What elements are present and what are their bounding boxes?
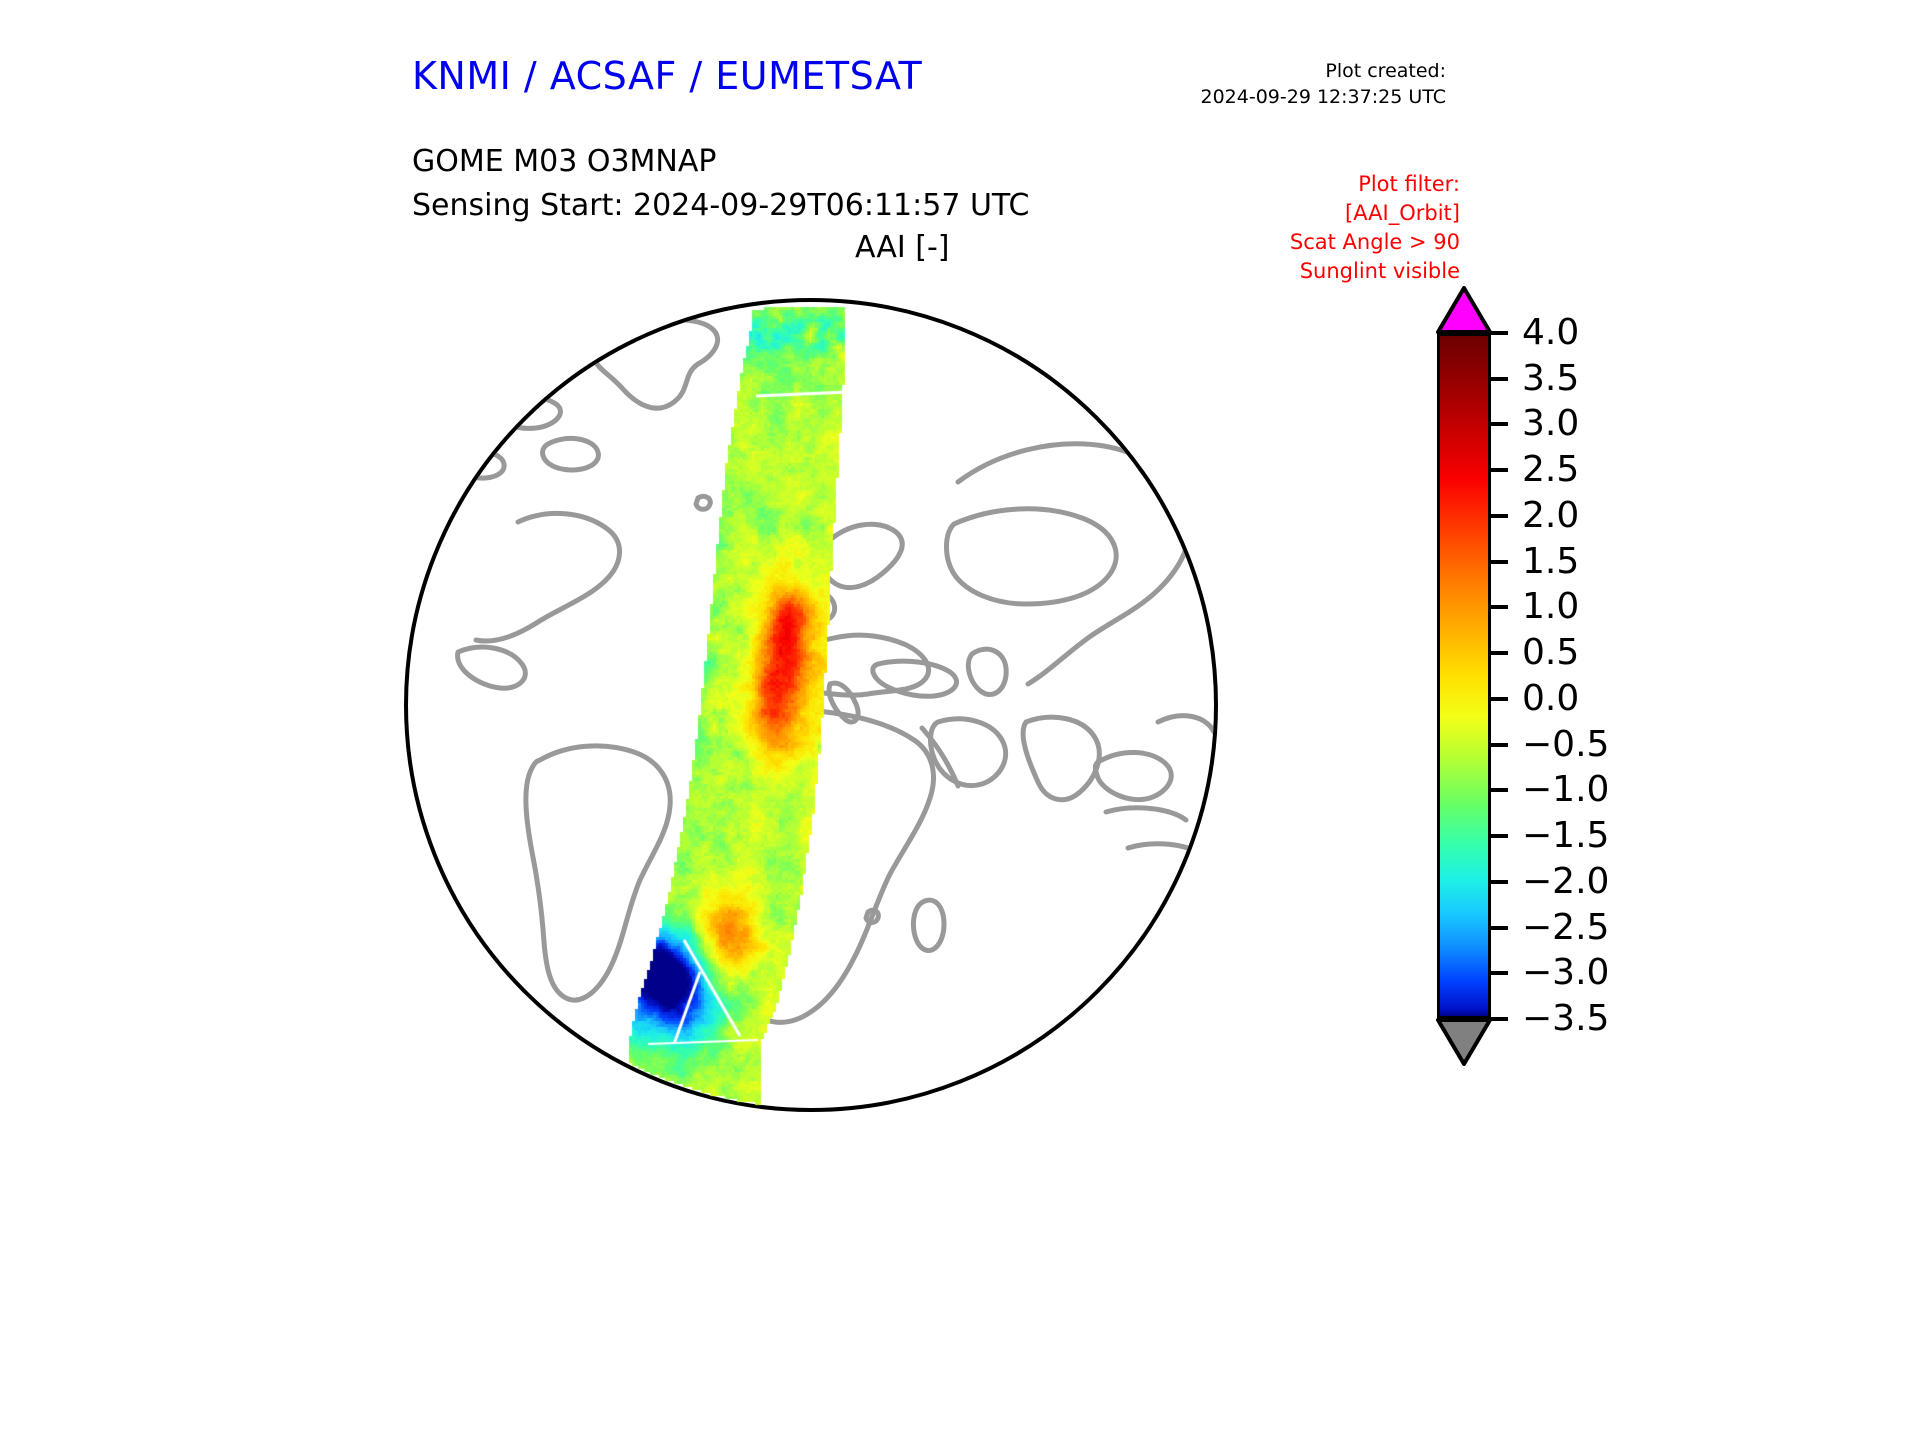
plot-title-block: GOME M03 O3MNAP Sensing Start: 2024-09-2… [412, 140, 1029, 228]
colorbar-tick-label: −2.0 [1522, 859, 1609, 905]
colorbar-tick-label: 1.0 [1522, 584, 1579, 630]
colorbar-tick-mark [1488, 468, 1508, 472]
colorbar-tick-label: 4.0 [1522, 310, 1579, 356]
aai-swath-overlay [398, 292, 1224, 1118]
colorbar-tick-mark [1488, 971, 1508, 975]
colorbar-tick-mark [1488, 560, 1508, 564]
colorbar-tick-label: 2.0 [1522, 493, 1579, 539]
plot-filter-line-1: [AAI_Orbit] [1290, 199, 1460, 228]
colorbar-tick-label: −3.5 [1522, 996, 1609, 1042]
colorbar: 4.03.53.02.52.01.51.00.50.0−0.5−1.0−1.5−… [1428, 286, 1668, 1066]
colorbar-tick-mark [1488, 1017, 1508, 1021]
colorbar-tick-mark [1488, 788, 1508, 792]
colorbar-tick-mark [1488, 743, 1508, 747]
colorbar-tick-label: −0.5 [1522, 722, 1609, 768]
plot-created-timestamp: 2024-09-29 12:37:25 UTC [1201, 84, 1447, 110]
colorbar-tick-mark [1488, 422, 1508, 426]
colorbar-tick-mark [1488, 605, 1508, 609]
quantity-label: AAI [-] [855, 230, 950, 265]
colorbar-tick-list: 4.03.53.02.52.01.51.00.50.0−0.5−1.0−1.5−… [1428, 286, 1668, 1066]
colorbar-tick-mark [1488, 834, 1508, 838]
colorbar-tick-mark [1488, 651, 1508, 655]
plot-filter-line-3: Sunglint visible [1290, 257, 1460, 286]
colorbar-tick-label: −3.0 [1522, 950, 1609, 996]
colorbar-tick-label: −1.0 [1522, 767, 1609, 813]
colorbar-tick-label: −2.5 [1522, 905, 1609, 951]
plot-filter-block: Plot filter: [AAI_Orbit] Scat Angle > 90… [1290, 170, 1460, 286]
colorbar-tick-label: −1.5 [1522, 813, 1609, 859]
colorbar-tick-mark [1488, 377, 1508, 381]
colorbar-tick-mark [1488, 880, 1508, 884]
colorbar-tick-mark [1488, 331, 1508, 335]
colorbar-tick-label: 0.5 [1522, 630, 1579, 676]
instrument-title: GOME M03 O3MNAP [412, 140, 1029, 184]
organisation-title: KNMI / ACSAF / EUMETSAT [412, 54, 922, 98]
colorbar-tick-label: 3.5 [1522, 356, 1579, 402]
plot-filter-line-2: Scat Angle > 90 [1290, 228, 1460, 257]
colorbar-tick-mark [1488, 697, 1508, 701]
sensing-start-title: Sensing Start: 2024-09-29T06:11:57 UTC [412, 184, 1029, 228]
colorbar-tick-label: 1.5 [1522, 539, 1579, 585]
colorbar-tick-label: 0.0 [1522, 676, 1579, 722]
plot-filter-line-0: Plot filter: [1290, 170, 1460, 199]
colorbar-tick-mark [1488, 514, 1508, 518]
plot-created-block: Plot created: 2024-09-29 12:37:25 UTC [1201, 58, 1447, 110]
colorbar-tick-label: 3.0 [1522, 401, 1579, 447]
map-area [398, 292, 1224, 1118]
colorbar-tick-label: 2.5 [1522, 447, 1579, 493]
colorbar-tick-mark [1488, 926, 1508, 930]
plot-created-label: Plot created: [1201, 58, 1447, 84]
